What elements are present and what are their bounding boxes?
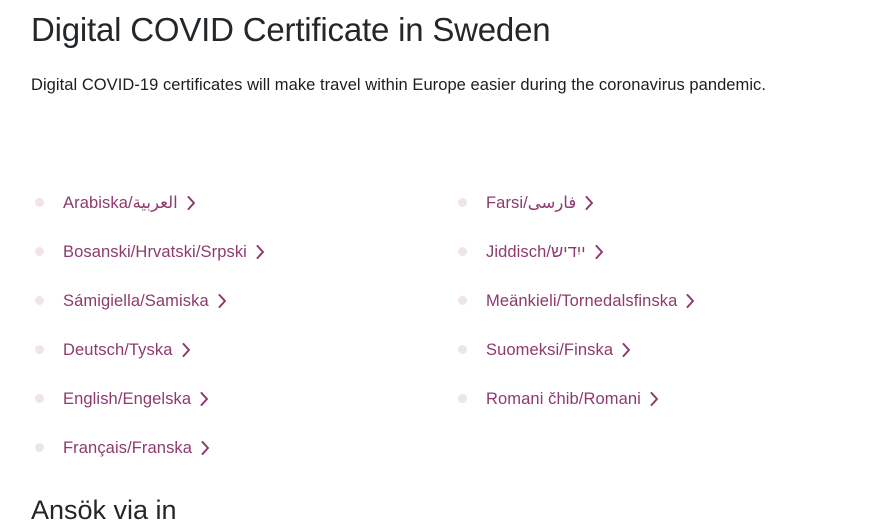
language-link-label: Meänkieli/Tornedalsfinska [486,290,677,312]
bullet-dot-icon [35,247,44,256]
bullet-dot-icon [458,198,467,207]
chevron-right-icon [650,392,659,406]
intro-paragraph: Digital COVID-19 certificates will make … [31,70,843,100]
bullet-dot-icon [35,394,44,403]
language-link[interactable]: فارسی/Farsi [458,178,881,227]
chevron-right-icon [622,343,631,357]
language-link[interactable]: Deutsch/Tyska [35,325,452,374]
language-link-label: ייִדיש/Jiddisch [486,241,586,263]
language-link[interactable]: ייִדיש/Jiddisch [458,227,881,276]
chevron-right-icon [201,441,210,455]
language-link-label: Romani čhib/Romani [486,388,641,410]
language-link-label: Deutsch/Tyska [63,339,173,361]
language-link-label: Sámigiella/Samiska [63,290,209,312]
chevron-right-icon [218,294,227,308]
bullet-dot-icon [458,394,467,403]
chevron-right-icon [187,196,196,210]
language-link[interactable]: Français/Franska [35,423,452,472]
language-link[interactable]: Meänkieli/Tornedalsfinska [458,276,881,325]
language-link[interactable]: Bosanski/Hrvatski/Srpski [35,227,452,276]
bullet-dot-icon [458,296,467,305]
language-link-label: Suomeksi/Finska [486,339,613,361]
bullet-dot-icon [458,345,467,354]
language-link[interactable]: العربية/Arabiska [35,178,452,227]
language-link-label: English/Engelska [63,388,191,410]
bullet-dot-icon [458,247,467,256]
language-link-label: العربية/Arabiska [63,192,178,214]
language-column-left: العربية/Arabiska Bosanski/Hrvatski/Srpsk… [0,178,452,472]
page-title: Digital COVID Certificate in Sweden [31,8,550,52]
language-link[interactable]: English/Engelska [35,374,452,423]
chevron-right-icon [686,294,695,308]
chevron-right-icon [585,196,594,210]
bullet-dot-icon [35,443,44,452]
bullet-dot-icon [35,345,44,354]
language-link[interactable]: Romani čhib/Romani [458,374,881,423]
language-link-label: Bosanski/Hrvatski/Srpski [63,241,247,263]
chevron-right-icon [256,245,265,259]
page-root: Digital COVID Certificate in Sweden Digi… [0,0,881,513]
chevron-right-icon [200,392,209,406]
chevron-right-icon [595,245,604,259]
language-links-section: العربية/Arabiska Bosanski/Hrvatski/Srpsk… [0,178,881,472]
chevron-right-icon [182,343,191,357]
language-link[interactable]: Suomeksi/Finska [458,325,881,374]
language-link[interactable]: Sámigiella/Samiska [35,276,452,325]
language-column-right: فارسی/Farsi ייִדיש/Jiddisch Me [452,178,881,472]
language-link-label: Français/Franska [63,437,192,459]
language-link-label: فارسی/Farsi [486,192,576,214]
next-section-heading: Ansök via in [31,492,177,528]
bullet-dot-icon [35,296,44,305]
bullet-dot-icon [35,198,44,207]
